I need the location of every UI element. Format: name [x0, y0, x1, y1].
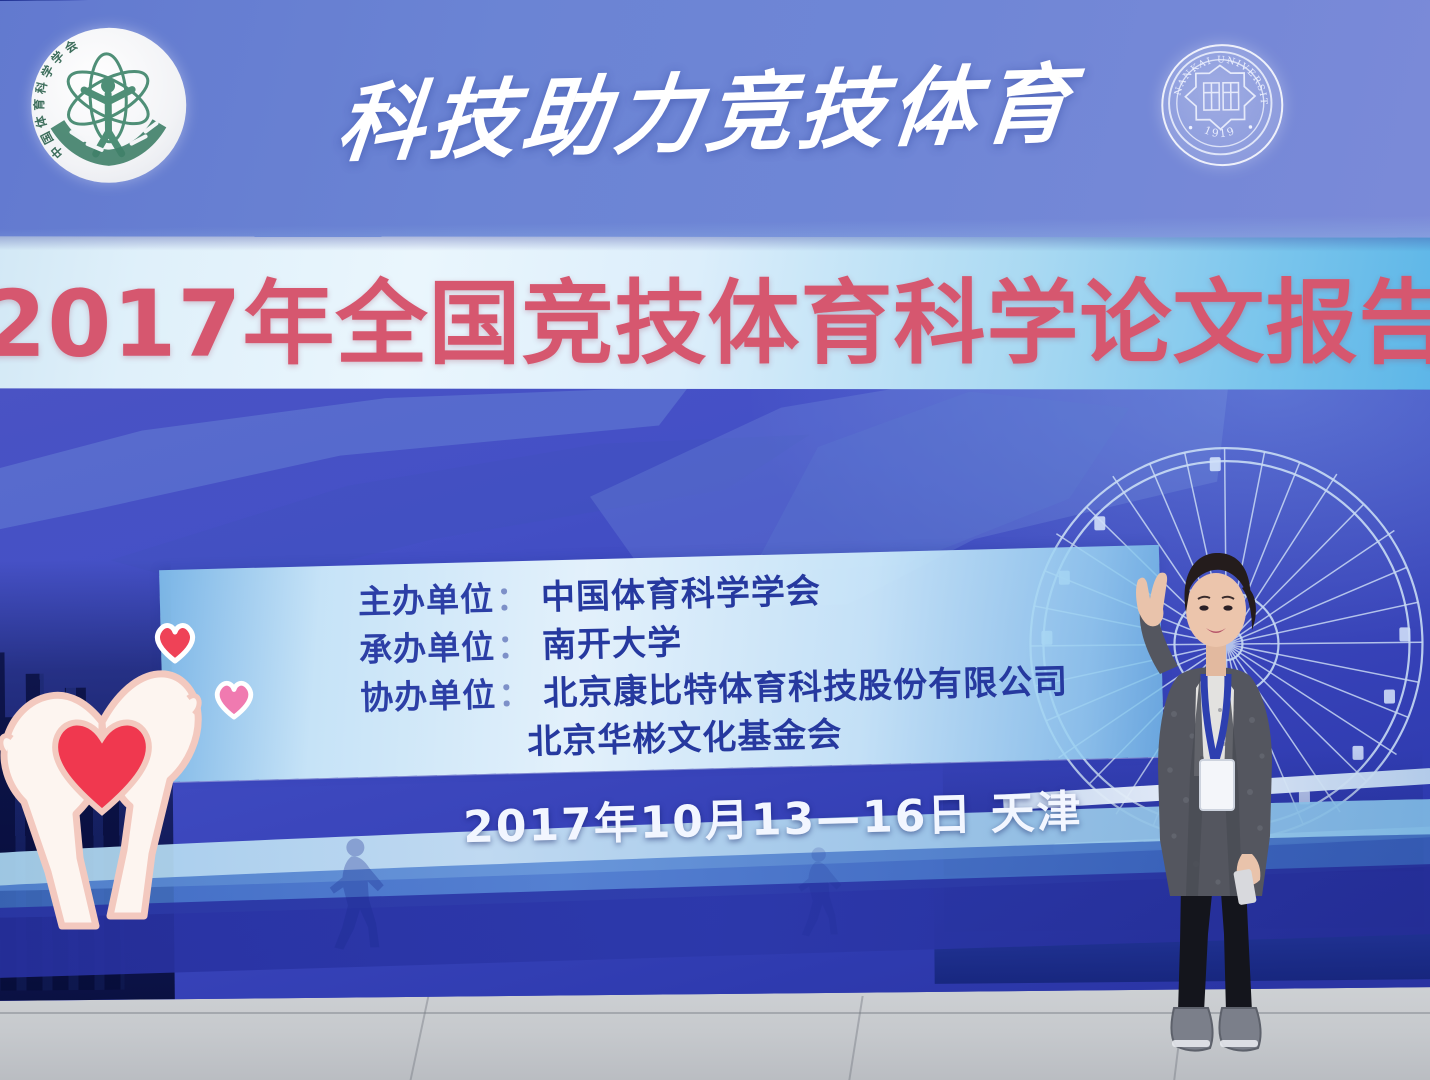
organizer-colon: ： [495, 624, 543, 669]
small-heart-red-sticker [152, 620, 198, 664]
runner-silhouette [311, 835, 402, 956]
banner-slogan: 科技助力竞技体育 [332, 47, 1025, 186]
title-band-shadow [0, 236, 1430, 251]
floor-seam [848, 996, 863, 1080]
organizer-colon: ： [496, 672, 544, 717]
woman-attendee [1112, 524, 1322, 1080]
organizer-value: 南开大学 [542, 621, 683, 668]
heart-hands-sticker [0, 626, 220, 944]
organizer-label: 协办单位 [360, 673, 497, 720]
small-heart-pink-sticker [212, 678, 256, 720]
photo-canvas: 中 国 体 育 科 学 学 会 [0, 0, 1430, 1080]
nankai-university-seal: NANKAI UNIVERSITY 1919 [1161, 44, 1284, 167]
organizer-value: 北京康比特体育科技股份有限公司 [543, 660, 1069, 716]
runner-silhouette [783, 845, 856, 942]
organizer-label: 承办单位 [359, 625, 496, 672]
organizer-colon: ： [493, 576, 541, 621]
banner-main-title: 2017年全国竞技体育科学论文报告会 [0, 272, 1402, 377]
organizer-label: 主办单位 [358, 577, 495, 624]
svg-text:1919: 1919 [1202, 123, 1238, 140]
organizer-value: 北京华彬文化基金会 [527, 713, 843, 764]
china-sport-science-society-logo: 中 国 体 育 科 学 学 会 [31, 27, 187, 183]
organizer-list: 主办单位 ： 中国体育科学学会 承办单位 ： 南开大学 协办单位 ： 北京康比特… [358, 564, 1062, 772]
organizer-value: 中国体育科学学会 [540, 569, 821, 620]
